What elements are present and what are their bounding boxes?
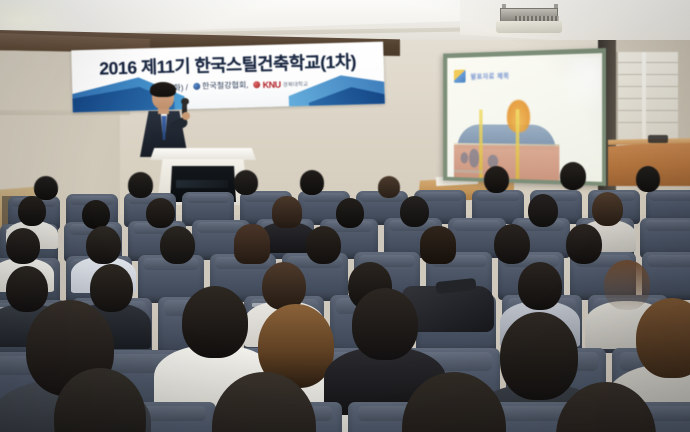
podium-top — [150, 148, 256, 160]
attendee — [18, 196, 46, 226]
attendee — [400, 196, 429, 227]
attendee — [6, 228, 40, 264]
attendee — [518, 262, 562, 310]
banner-knu-group: KNU 경북대학교 — [254, 78, 309, 90]
attendee — [636, 166, 660, 192]
attendee — [352, 288, 418, 360]
attendee — [128, 172, 153, 198]
attendee — [234, 224, 270, 264]
attendee — [86, 226, 121, 264]
event-banner: 2016 제11기 한국스틸건축학교(1차) .10.25(화) / 한국철강협… — [71, 42, 385, 113]
attendee — [566, 224, 602, 264]
attendee — [528, 194, 558, 227]
attendee — [420, 226, 456, 264]
attendee — [300, 170, 324, 195]
attendee — [560, 162, 586, 190]
attendee — [556, 382, 656, 432]
attendee — [182, 286, 248, 358]
attendee — [484, 166, 509, 193]
presenter-hair — [150, 82, 176, 97]
attendee — [306, 226, 341, 264]
attendee — [494, 224, 530, 264]
attendee — [262, 262, 306, 310]
podium-monitor-glow — [176, 180, 228, 188]
counter-object — [648, 135, 668, 143]
attendee — [336, 198, 364, 228]
window-with-blinds — [616, 52, 678, 144]
microphone-head — [181, 98, 189, 105]
seminar-photo: 2016 제11기 한국스틸건축학교(1차) .10.25(화) / 한국철강협… — [0, 0, 690, 432]
slide-title: 발표자료 제목 — [471, 71, 510, 81]
attendee — [234, 170, 258, 195]
knu-subtext: 경북대학교 — [283, 79, 309, 88]
attendee — [272, 196, 302, 228]
attendee — [592, 192, 623, 226]
screen-light-hotspot — [562, 57, 600, 111]
attendee — [82, 200, 110, 229]
knu-wordmark: KNU — [263, 79, 281, 89]
attendee — [54, 368, 146, 432]
attendee — [402, 372, 506, 432]
slide-logo-icon — [454, 70, 466, 83]
banner-organizer: 한국철강협회, — [202, 79, 249, 91]
attendee — [636, 298, 690, 378]
attendee — [146, 198, 175, 228]
presenter — [138, 84, 196, 154]
knu-logo-icon — [254, 81, 261, 88]
attendee — [212, 372, 316, 432]
banner-organizer-group: 한국철강협회, — [193, 79, 249, 92]
attendee — [160, 226, 195, 264]
attendee — [378, 176, 400, 198]
presenter-hand — [182, 112, 190, 120]
projector-icon — [492, 4, 572, 34]
